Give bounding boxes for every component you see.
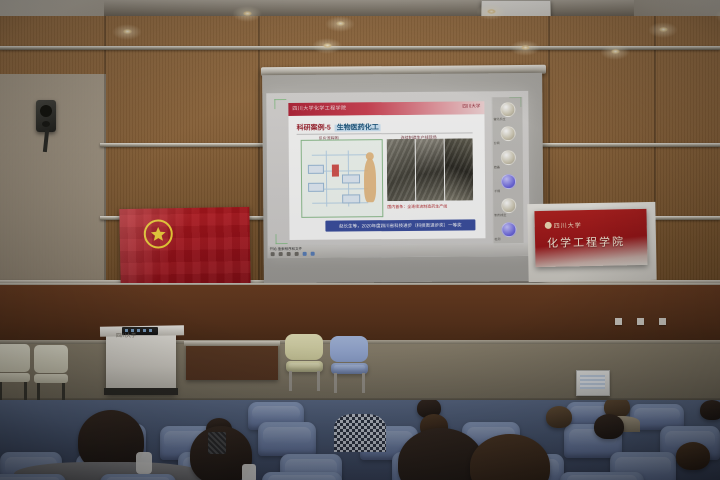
slide-university-logo: 四川大学: [462, 103, 480, 109]
college-name-text: 化学工程学院: [547, 233, 625, 251]
university-name-text: 四川大学: [554, 223, 582, 230]
production-line-photos: [387, 138, 474, 201]
lectern: [106, 332, 176, 394]
chair-back: [285, 334, 323, 360]
lectern-logo-text: 四川大学: [116, 332, 136, 339]
chair-leg: [37, 383, 40, 401]
process-step-icon: [500, 150, 515, 165]
diagram-human-head: [366, 152, 374, 160]
photo-plant-interior: [416, 139, 445, 201]
chair-leg: [317, 371, 320, 391]
process-flow-diagram: [301, 139, 384, 218]
ceiling-light: [521, 45, 530, 50]
wall-plate[interactable]: [659, 318, 666, 325]
university-seal-icon: [545, 222, 552, 229]
chair-leg: [0, 382, 2, 400]
audience-head: [700, 400, 720, 420]
stage-table-top: [184, 341, 280, 346]
face-mask: [242, 464, 256, 480]
ceiling-light: [123, 29, 132, 34]
wall-seam: [104, 16, 106, 280]
desktop-taskbar[interactable]: 开始 搜索程序和文件: [268, 243, 530, 258]
photo-piping: [445, 138, 474, 200]
diagram-node: [342, 194, 360, 203]
chair-back: [330, 336, 368, 362]
seat[interactable]: [0, 474, 66, 480]
seat[interactable]: [560, 472, 644, 480]
process-step-icon: [501, 198, 516, 213]
chair-leg: [334, 373, 337, 393]
photo-reactor: [387, 139, 416, 201]
sidebar-item-3[interactable]: 干燥: [493, 169, 523, 193]
sidebar-item-2[interactable]: 结晶: [493, 145, 523, 169]
slide-red-note: 国内首条：全连续流制造药生产线: [387, 204, 447, 211]
wall-seam: [258, 16, 260, 280]
chair-leg: [24, 382, 27, 400]
face-mask: [136, 452, 152, 474]
taskbar-icon[interactable]: [279, 252, 283, 256]
seat[interactable]: [100, 474, 176, 480]
process-step-icon: [500, 174, 515, 189]
youth-league-flag: [119, 207, 250, 287]
ceiling-light: [487, 9, 496, 14]
chair-leg: [62, 383, 65, 401]
ceiling-light: [659, 27, 668, 32]
presentation-sidebar[interactable]: 催化反应 分离 结晶 干燥 制剂成型: [491, 97, 523, 247]
wall-mounted-speaker: [36, 100, 56, 132]
flag-sheen: [119, 207, 250, 287]
ceiling-soffit-right: [634, 0, 720, 16]
diagram-human-figure: [364, 158, 376, 202]
slide-heading-rule: [297, 132, 473, 135]
lectern-base: [104, 388, 178, 395]
diagram-line: [312, 154, 368, 155]
registration-mark: [276, 243, 288, 244]
chair-seat: [0, 373, 30, 382]
slide-award-text: 赵长生等，2020年度四川省科技进步（科技类进步奖）一等奖: [339, 222, 462, 229]
audience-patterned-jacket: [334, 414, 386, 452]
audience-head: [546, 406, 572, 428]
chair-back: [34, 345, 68, 373]
projected-desktop: 四川大学化学工程学院 四川大学 科研案例-5生物医药化工 反应流程图 连续制造生…: [266, 91, 529, 258]
sidebar-label-5: 检测: [495, 237, 501, 241]
audience-seating-area: [0, 400, 720, 480]
college-banner: 四川大学 化学工程学院: [534, 209, 647, 267]
ceiling-light: [243, 11, 252, 16]
wall-plate[interactable]: [615, 318, 622, 325]
lecture-hall-photo: 四川大学化学工程学院 四川大学 科研案例-5生物医药化工 反应流程图 连续制造生…: [0, 0, 720, 480]
slide-titlebar-text: 四川大学化学工程学院: [292, 104, 346, 111]
slide-award-banner: 赵长生等，2020年度四川省科技进步（科技类进步奖）一等奖: [325, 219, 475, 231]
diagram-node: [308, 183, 324, 192]
process-step-icon: [501, 222, 516, 237]
process-step-icon: [500, 102, 515, 117]
seat[interactable]: [262, 472, 342, 480]
registration-mark: [274, 99, 275, 109]
taskbar-icon-active[interactable]: [311, 252, 315, 256]
registration-mark: [275, 234, 276, 244]
chair-leg: [289, 371, 292, 391]
ceiling-light: [323, 43, 332, 48]
seat[interactable]: [258, 422, 316, 456]
diagram-node: [308, 165, 324, 174]
taskbar-icon[interactable]: [287, 252, 291, 256]
hair-clip: [208, 432, 226, 454]
sidebar-item-0[interactable]: 催化反应: [492, 97, 522, 121]
university-name: 四川大学: [545, 220, 582, 230]
registration-mark: [274, 99, 286, 100]
slide-heading: 科研案例-5生物医药化工: [297, 122, 381, 133]
sidebar-item-4[interactable]: 制剂成型: [493, 193, 523, 217]
sidebar-item-5[interactable]: 检测: [493, 217, 523, 241]
ceiling-light: [611, 49, 620, 54]
slide-heading-highlight: 生物医药化工: [335, 124, 381, 131]
chair-back: [0, 344, 30, 372]
equipment-box: [576, 370, 610, 396]
diagram-node: [342, 174, 360, 183]
projection-screen: 四川大学化学工程学院 四川大学 科研案例-5生物医药化工 反应流程图 连续制造生…: [262, 73, 544, 283]
process-step-icon: [500, 126, 515, 141]
slide-content-area: 科研案例-5生物医药化工 反应流程图 连续制造生产线现场: [288, 114, 485, 240]
sidebar-item-1[interactable]: 分离: [493, 121, 523, 145]
stage-table: [186, 344, 278, 380]
diagram-highlight: [332, 165, 339, 177]
audience-head: [594, 414, 624, 439]
audience-head: [676, 442, 710, 470]
diagram-line: [326, 151, 327, 207]
taskbar-icon[interactable]: [295, 252, 299, 256]
chair-seat: [34, 374, 68, 383]
slide-heading-main: 科研案例-5: [297, 125, 331, 132]
ceiling-light: [336, 21, 345, 26]
wall-plate[interactable]: [637, 318, 644, 325]
taskbar-icon-active[interactable]: [303, 252, 307, 256]
taskbar-icon[interactable]: [271, 252, 275, 256]
chair-leg: [362, 373, 365, 393]
taskbar-icons[interactable]: [271, 252, 315, 256]
